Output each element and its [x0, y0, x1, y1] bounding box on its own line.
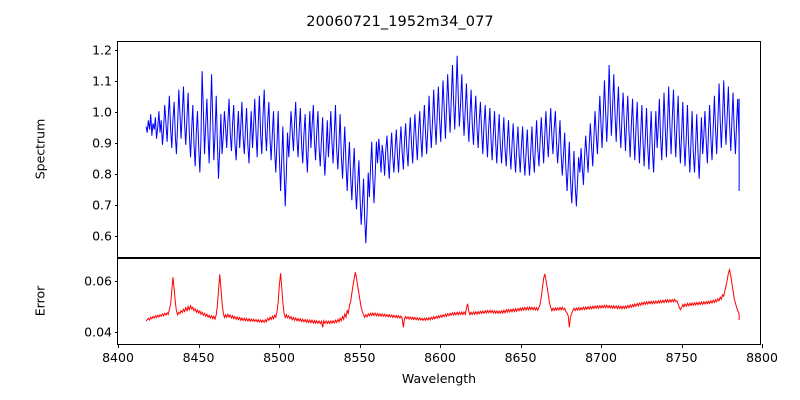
x-tick-label: 8800: [746, 350, 778, 365]
error-panel-path: [146, 270, 739, 328]
x-tick-mark: [118, 344, 119, 348]
spectrum-panel-path: [146, 56, 739, 243]
error-axis-label: Error: [33, 286, 48, 316]
x-tick-label: 8650: [505, 350, 537, 365]
y-tick-mark: [115, 332, 119, 333]
y-tick-label: 0.7: [92, 197, 112, 212]
x-tick-mark: [521, 344, 522, 348]
x-tick-label: 8600: [424, 350, 456, 365]
x-tick-label: 8450: [183, 350, 215, 365]
error-plot-area: 0.040.0684008450850085508600865087008750…: [117, 258, 761, 345]
spectrum-axis-label: Spectrum: [33, 119, 48, 180]
x-tick-label: 8700: [585, 350, 617, 365]
x-tick-label: 8550: [344, 350, 376, 365]
y-tick-label: 0.6: [92, 228, 112, 243]
wavelength-axis-label: Wavelength: [402, 371, 476, 386]
y-tick-mark: [115, 205, 119, 206]
x-tick-mark: [199, 344, 200, 348]
figure-canvas: 20060721_1952m34_077 0.60.70.80.91.01.11…: [0, 0, 800, 400]
y-tick-mark: [115, 81, 119, 82]
x-tick-mark: [360, 344, 361, 348]
y-tick-mark: [115, 236, 119, 237]
y-tick-mark: [115, 143, 119, 144]
figure-title: 20060721_1952m34_077: [0, 14, 800, 30]
x-tick-label: 8500: [263, 350, 295, 365]
y-tick-label: 0.06: [84, 273, 112, 288]
y-tick-mark: [115, 281, 119, 282]
x-tick-mark: [682, 344, 683, 348]
x-tick-label: 8750: [666, 350, 698, 365]
x-tick-mark: [440, 344, 441, 348]
spectrum-plot-area: 0.60.70.80.91.01.11.2: [117, 41, 761, 258]
x-tick-mark: [279, 344, 280, 348]
x-tick-label: 8400: [102, 350, 134, 365]
y-tick-label: 0.8: [92, 166, 112, 181]
y-tick-label: 1.1: [92, 73, 112, 88]
y-tick-label: 1.0: [92, 104, 112, 119]
y-tick-mark: [115, 50, 119, 51]
x-tick-mark: [762, 344, 763, 348]
spectrum-series-line: [118, 42, 760, 257]
x-tick-mark: [601, 344, 602, 348]
y-tick-label: 0.04: [84, 324, 112, 339]
y-tick-label: 1.2: [92, 42, 112, 57]
y-tick-mark: [115, 112, 119, 113]
error-series-line: [118, 259, 760, 344]
y-tick-mark: [115, 174, 119, 175]
y-tick-label: 0.9: [92, 135, 112, 150]
